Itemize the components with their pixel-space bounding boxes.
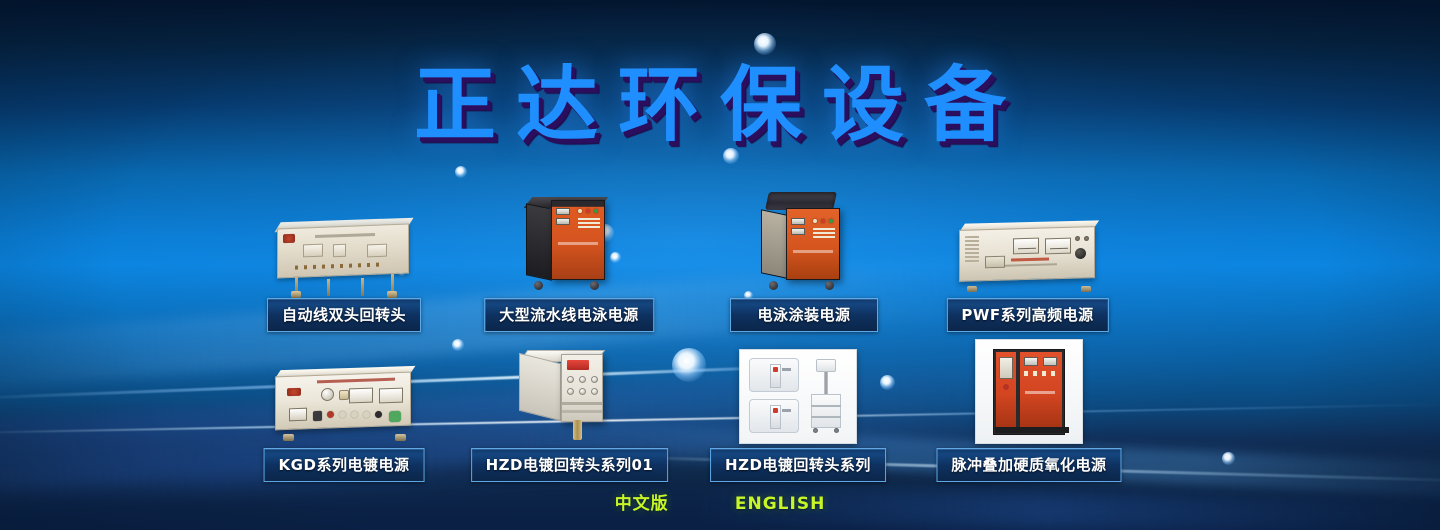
lang-link-english[interactable]: ENGLISH (735, 494, 825, 514)
product-item-5[interactable]: KGD系列电镀电源 (268, 350, 420, 482)
bokeh-dot (880, 375, 895, 390)
product-item-8[interactable]: 脉冲叠加硬质氧化电源 (948, 340, 1110, 482)
splash-page: 正达环保设备 自动线双头回转头 大型流水线 (0, 0, 1440, 530)
product-image-6 (515, 344, 625, 444)
product-label-4[interactable]: PWF系列高频电源 (946, 298, 1108, 332)
product-label-3[interactable]: 电泳涂装电源 (730, 298, 878, 332)
product-label-8[interactable]: 脉冲叠加硬质氧化电源 (936, 448, 1121, 482)
product-image-2 (524, 192, 614, 292)
product-item-6[interactable]: HZD电镀回转头系列01 (492, 342, 647, 482)
product-label-6[interactable]: HZD电镀回转头系列01 (471, 448, 669, 482)
product-label-7[interactable]: HZD电镀回转头系列 (710, 448, 886, 482)
product-item-2[interactable]: 大型流水线电泳电源 (504, 190, 634, 332)
bench-plating-supply-icon (269, 366, 419, 444)
lang-link-chinese[interactable]: 中文版 (615, 489, 669, 514)
device-photo-panel-icon (739, 349, 857, 444)
orange-black-cabinet-icon (524, 192, 614, 292)
background-light-streak (0, 403, 1440, 434)
product-item-1[interactable]: 自动线双头回转头 (268, 200, 420, 332)
rotating-head-unit-icon (515, 344, 625, 444)
orange-cabinet-with-tank-icon (759, 192, 849, 292)
bokeh-dot (1222, 452, 1235, 465)
product-label-1[interactable]: 自动线双头回转头 (267, 298, 421, 332)
bokeh-dot (672, 348, 706, 382)
product-item-3[interactable]: 电泳涂装电源 (735, 190, 873, 332)
product-item-7[interactable]: HZD电镀回转头系列 (722, 342, 874, 482)
product-image-1 (269, 214, 419, 296)
bokeh-dot (754, 33, 776, 55)
product-image-8 (975, 339, 1083, 444)
language-nav: 中文版 ENGLISH (0, 489, 1440, 514)
product-label-2[interactable]: 大型流水线电泳电源 (484, 298, 654, 332)
product-image-7 (739, 349, 857, 444)
product-image-3 (759, 192, 849, 292)
product-image-5 (269, 366, 419, 444)
red-tall-cabinet-icon (975, 339, 1083, 444)
product-image-4 (953, 218, 1103, 296)
product-label-5[interactable]: KGD系列电镀电源 (264, 448, 425, 482)
bokeh-dot (455, 166, 467, 178)
page-title: 正达环保设备 (414, 62, 1026, 151)
bokeh-dot (723, 148, 739, 164)
beige-long-cabinet-icon (269, 214, 419, 296)
page-title-wrapper: 正达环保设备 (0, 62, 1440, 151)
product-item-4[interactable]: PWF系列高频电源 (950, 200, 1105, 332)
bokeh-dot (452, 339, 464, 351)
beige-desktop-power-supply-icon (953, 218, 1103, 296)
